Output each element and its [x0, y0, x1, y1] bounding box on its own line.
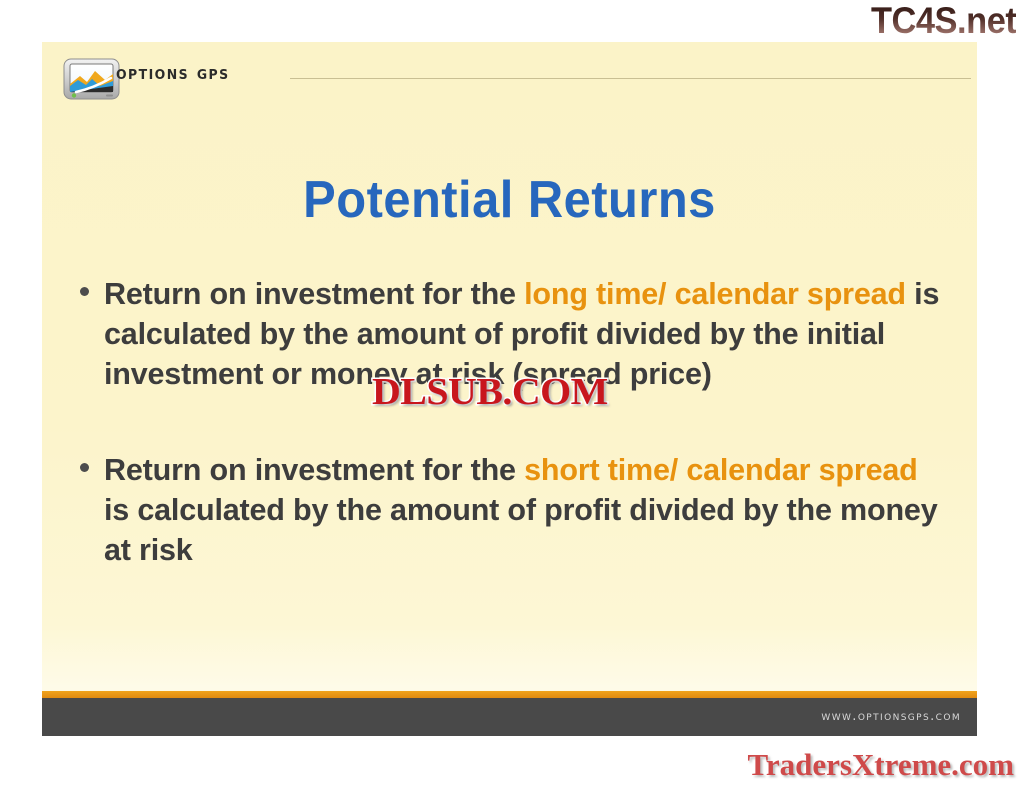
bullet-text: Return on investment for the short time/… — [104, 450, 950, 570]
gps-device-icon — [62, 56, 122, 104]
slide-footer: www.OptionsGPS.com — [42, 698, 977, 736]
bullet-marker — [72, 274, 104, 296]
bullet-item: Return on investment for the short time/… — [72, 450, 963, 570]
header-divider — [290, 78, 971, 79]
bullet-segment-highlight: long time/ calendar spread — [524, 276, 906, 311]
bullet-segment: Return on investment for the — [104, 452, 524, 487]
footer-url: www.OptionsGPS.com — [821, 709, 961, 724]
tradersxtreme-watermark: TradersXtreme.com — [747, 747, 1014, 783]
slide-title: Potential Returns — [70, 170, 949, 230]
bullet-segment: Return on investment for the — [104, 276, 524, 311]
bullet-segment-highlight: short time/ calendar spread — [524, 452, 917, 487]
slide-header: Options GPS — [42, 42, 977, 102]
bullet-marker — [72, 450, 104, 472]
dlsub-watermark: DLSUB.COM — [372, 373, 608, 411]
bullet-segment: is calculated by the amount of profit di… — [104, 492, 937, 567]
tc4s-watermark: TC4S.net — [871, 0, 1016, 42]
brand-wordmark: Options GPS — [116, 62, 230, 84]
slide-body: Return on investment for the long time/ … — [72, 274, 963, 626]
footer-accent-stripe — [42, 691, 977, 698]
